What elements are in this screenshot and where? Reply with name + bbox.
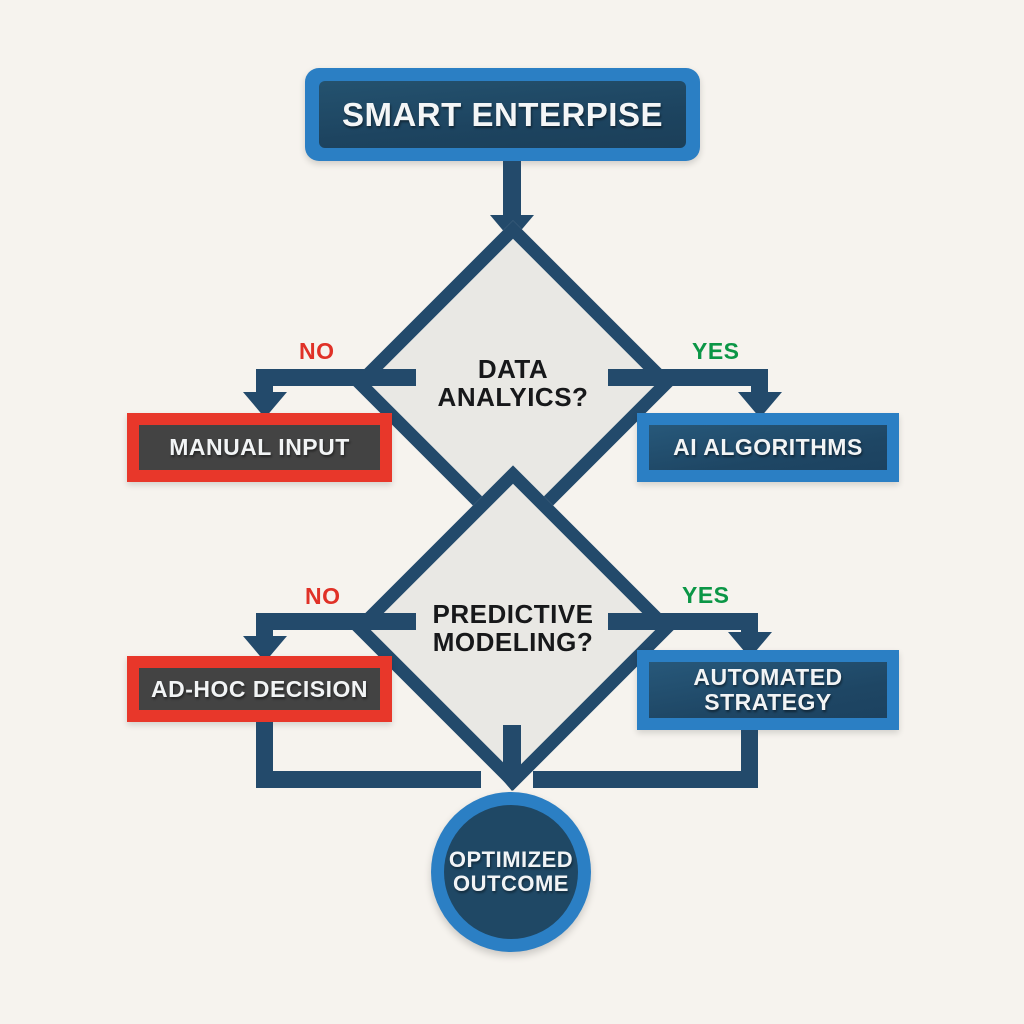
edge-start-to-decision1-stem [503, 161, 521, 219]
node-manual-input-label: MANUAL INPUT [169, 435, 350, 460]
node-decision2-label: PREDICTIVE MODELING? [432, 600, 593, 656]
edge-d1-yes-horizontal [608, 369, 768, 386]
node-start[interactable]: SMART ENTERPISE [305, 68, 700, 161]
branch-label-d1-yes: YES [692, 338, 740, 365]
node-optimized-outcome-fill: OPTIMIZED OUTCOME [444, 805, 578, 939]
node-optimized-outcome[interactable]: OPTIMIZED OUTCOME [431, 792, 591, 952]
node-manual-input-fill: MANUAL INPUT [139, 425, 380, 470]
edge-d2-to-end-stem [503, 725, 521, 770]
branch-label-d2-yes: YES [682, 582, 730, 609]
node-start-inner: SMART ENTERPISE [319, 81, 686, 148]
node-ai-algorithms-label: AI ALGORITHMS [673, 435, 863, 460]
edge-d2-yes-horizontal [608, 613, 758, 630]
edge-d2-to-end-arrowhead [490, 765, 534, 791]
edge-d1-no-horizontal [256, 369, 416, 386]
node-ad-hoc-decision[interactable]: AD-HOC DECISION [127, 656, 392, 722]
branch-label-d1-no: NO [299, 338, 335, 365]
edge-adhoc-to-end-horizontal [256, 771, 481, 788]
node-decision2-label-wrap: PREDICTIVE MODELING? [385, 500, 641, 756]
node-ad-hoc-label: AD-HOC DECISION [151, 677, 368, 702]
node-ai-algorithms-fill: AI ALGORITHMS [649, 425, 887, 470]
edge-d2-no-horizontal [256, 613, 416, 630]
node-decision1-label: DATA ANALYICS? [438, 355, 589, 411]
node-automated-strategy[interactable]: AUTOMATED STRATEGY [637, 650, 899, 730]
branch-label-d2-no: NO [305, 583, 341, 610]
edge-strategy-to-end-horizontal [533, 771, 758, 788]
node-automated-strategy-label: AUTOMATED STRATEGY [693, 665, 842, 715]
flowchart-canvas: SMART ENTERPISE DATA ANALYICS? NO YES MA… [0, 0, 1024, 1024]
node-optimized-outcome-label: OPTIMIZED OUTCOME [449, 848, 573, 896]
node-automated-strategy-fill: AUTOMATED STRATEGY [649, 662, 887, 718]
node-start-label: SMART ENTERPISE [342, 97, 663, 133]
node-manual-input[interactable]: MANUAL INPUT [127, 413, 392, 482]
node-ad-hoc-fill: AD-HOC DECISION [139, 668, 380, 710]
node-ai-algorithms[interactable]: AI ALGORITHMS [637, 413, 899, 482]
